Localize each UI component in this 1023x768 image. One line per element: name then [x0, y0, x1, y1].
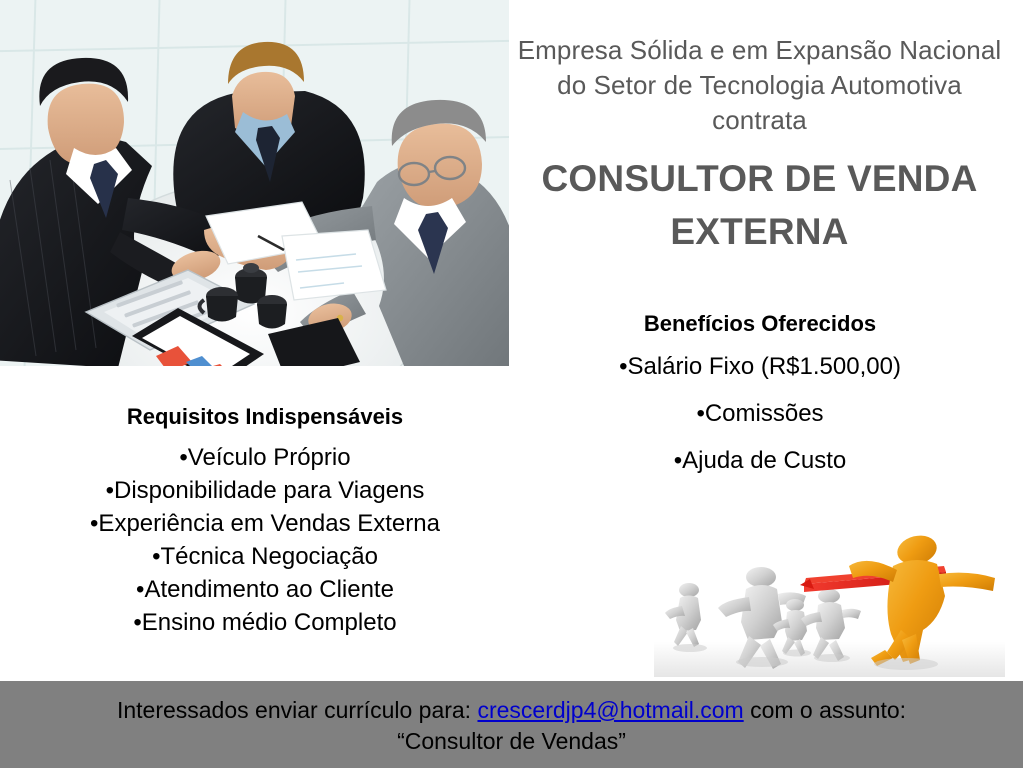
requirements-item: •Técnica Negociação: [12, 540, 518, 573]
footer-text-before-email: Interessados enviar currículo para:: [117, 697, 478, 723]
benefits-heading: Benefícios Oferecidos: [534, 310, 986, 338]
page-title: CONSULTOR DE VENDA EXTERNA: [500, 152, 1019, 258]
requirements-item: •Atendimento ao Cliente: [12, 573, 518, 606]
requirements-section: Requisitos Indispensáveis •Veículo Própr…: [12, 403, 518, 639]
job-posting-poster: Empresa Sólida e em Expansão Nacional do…: [0, 0, 1023, 768]
footer-contact-bar: Interessados enviar currículo para: cres…: [0, 681, 1023, 768]
requirements-item: •Ensino médio Completo: [12, 606, 518, 639]
requirements-item: •Disponibilidade para Viagens: [12, 474, 518, 507]
requirements-heading: Requisitos Indispensáveis: [12, 403, 518, 431]
company-subtitle-line2: do Setor de Tecnologia Automotiva: [500, 68, 1019, 103]
winner-illustration-graphic: [654, 522, 1005, 677]
contact-email-link[interactable]: crescerdjp4@hotmail.com: [477, 697, 743, 723]
job-title-line1: CONSULTOR DE VENDA: [500, 152, 1019, 205]
footer-text-after-email: com o assunto:: [744, 697, 906, 723]
benefits-item: •Salário Fixo (R$1.500,00): [534, 352, 986, 382]
company-subtitle-line1: Empresa Sólida e em Expansão Nacional: [500, 33, 1019, 68]
benefits-section: Benefícios Oferecidos •Salário Fixo (R$1…: [534, 310, 986, 493]
benefits-item: •Comissões: [534, 399, 986, 429]
benefits-item: •Ajuda de Custo: [534, 446, 986, 476]
winner-finish-line-illustration: [654, 522, 1005, 677]
company-subtitle-line3: contrata: [500, 103, 1019, 138]
footer-line-2: “Consultor de Vendas”: [0, 726, 1023, 757]
job-title-line2: EXTERNA: [500, 205, 1019, 258]
requirements-item: •Experiência em Vendas Externa: [12, 507, 518, 540]
business-handshake-photo: [0, 0, 509, 366]
photo-illustration: [0, 0, 509, 366]
footer-line-1: Interessados enviar currículo para: cres…: [0, 681, 1023, 726]
company-subtitle: Empresa Sólida e em Expansão Nacional do…: [500, 33, 1019, 138]
requirements-item: •Veículo Próprio: [12, 441, 518, 474]
